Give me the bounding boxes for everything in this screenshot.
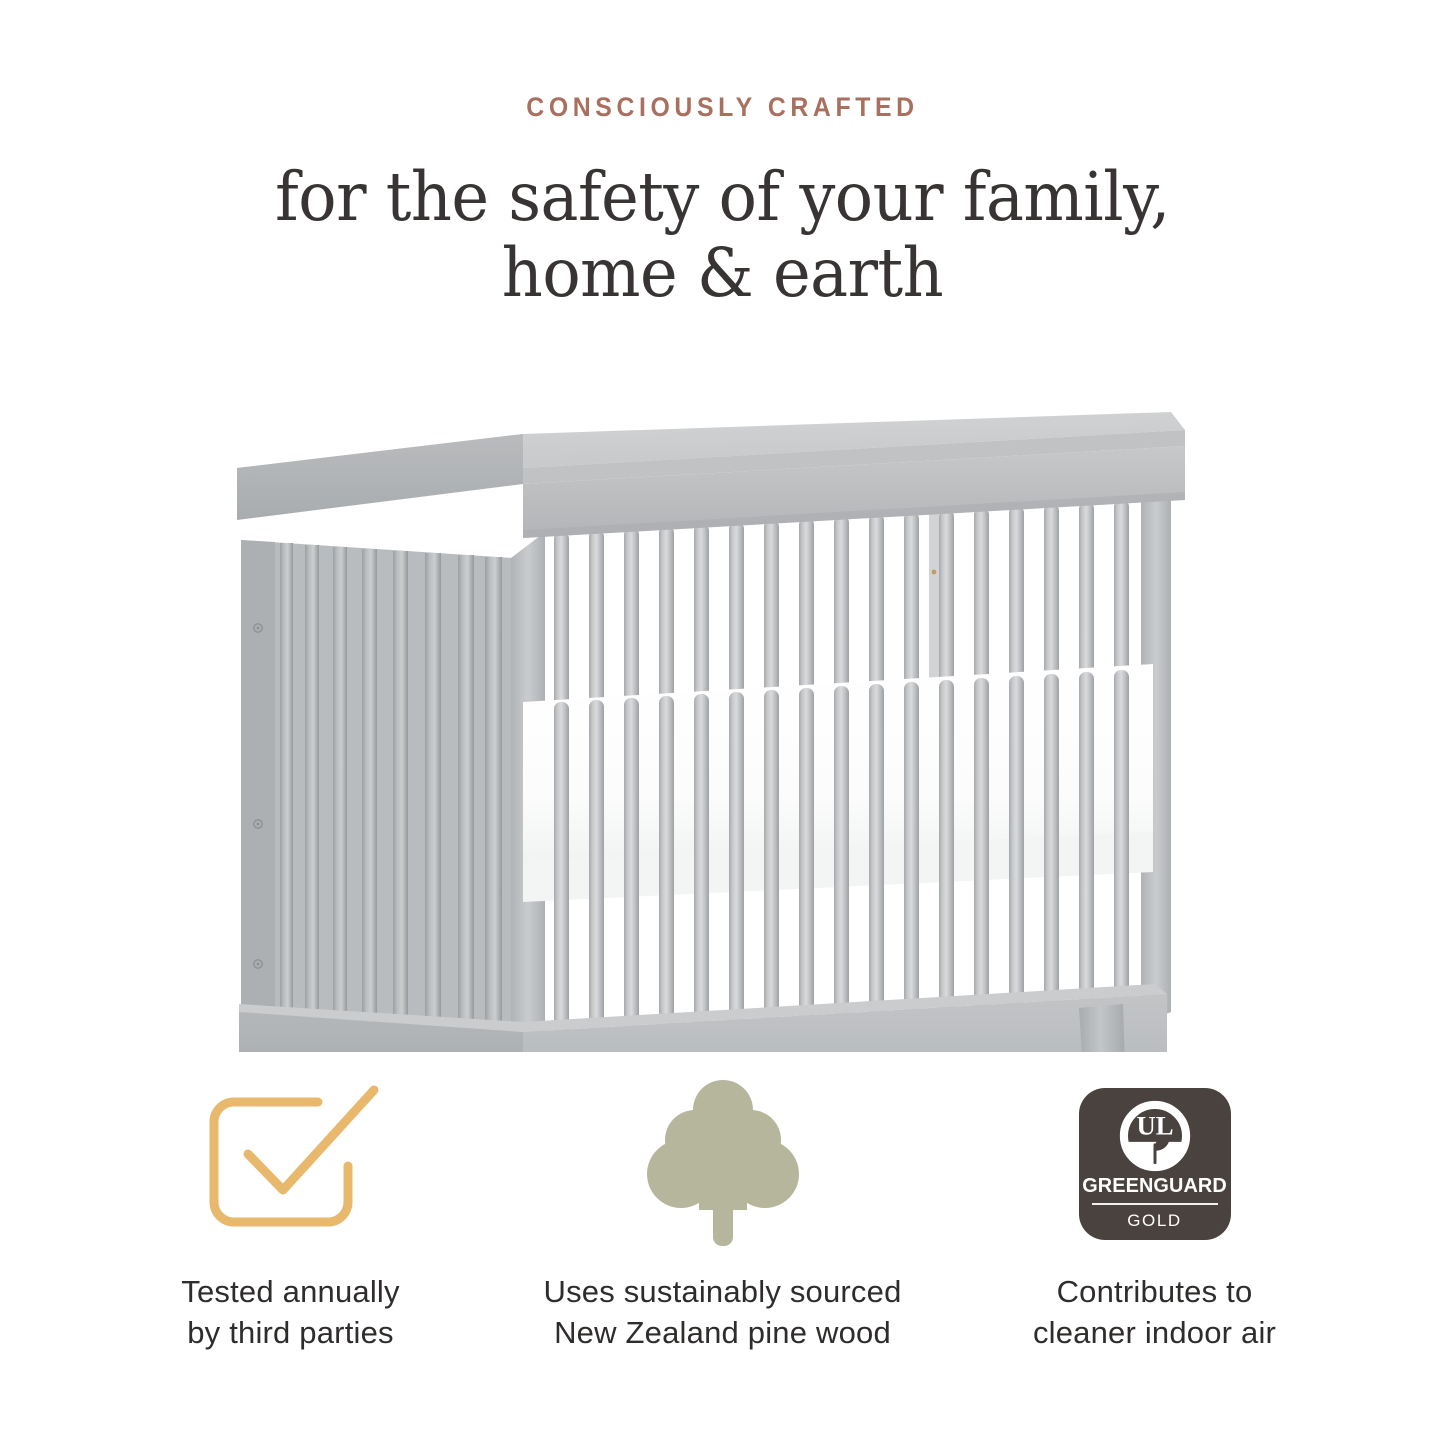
feature-caption: Uses sustainably sourced New Zealand pin… (543, 1272, 901, 1354)
headline-line-2: home & earth (36, 235, 1409, 311)
feature-item-tested-annually: Tested annually by third parties (75, 1078, 507, 1354)
feature-icon-wrapper (643, 1078, 803, 1250)
greenguard-tier-label: GOLD (1127, 1211, 1182, 1231)
caption-line-1: Uses sustainably sourced (543, 1272, 901, 1313)
feature-item-sustainable-wood: Uses sustainably sourced New Zealand pin… (507, 1078, 939, 1354)
greenguard-gold-badge-icon: UL GREENGUARD GOLD (1079, 1088, 1231, 1240)
caption-line-2: New Zealand pine wood (543, 1313, 901, 1354)
feature-caption: Contributes to cleaner indoor air (1033, 1272, 1276, 1354)
badge-divider (1092, 1203, 1218, 1205)
greenguard-wordmark: GREENGUARD (1082, 1174, 1227, 1198)
ul-mark-icon: UL (1118, 1099, 1192, 1173)
checkbox-check-icon (196, 1084, 386, 1244)
page-title: for the safety of your family, home & ea… (36, 159, 1409, 312)
feature-caption: Tested annually by third parties (181, 1272, 399, 1354)
headline-line-1: for the safety of your family, (275, 158, 1170, 236)
eyebrow-text: CONSCIOUSLY CRAFTED (58, 92, 1387, 123)
caption-line-1: Contributes to (1033, 1272, 1276, 1313)
tree-icon (643, 1078, 803, 1250)
header-block: CONSCIOUSLY CRAFTED for the safety of yo… (0, 0, 1445, 312)
caption-line-1: Tested annually (181, 1272, 399, 1313)
marketing-image-canvas: CONSCIOUSLY CRAFTED for the safety of yo… (0, 0, 1445, 1445)
crib-left-side-panel (241, 540, 513, 1052)
product-image (0, 372, 1445, 1072)
feature-row: Tested annually by third parties (0, 1078, 1445, 1354)
caption-line-2: cleaner indoor air (1033, 1313, 1276, 1354)
ul-letters: UL (1136, 1111, 1173, 1141)
caption-line-2: by third parties (181, 1313, 399, 1354)
crib-illustration (223, 372, 1223, 1052)
feature-item-greenguard: UL GREENGUARD GOLD Contributes to cleane… (939, 1078, 1371, 1354)
feature-icon-wrapper (196, 1078, 386, 1250)
feature-icon-wrapper: UL GREENGUARD GOLD (1079, 1078, 1231, 1250)
